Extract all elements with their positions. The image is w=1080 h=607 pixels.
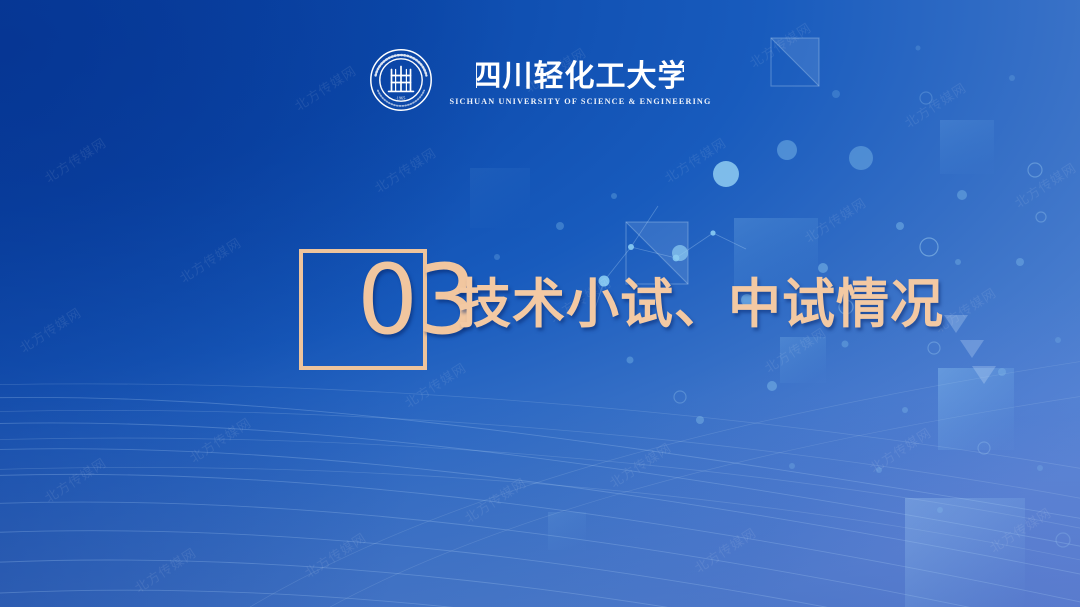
section-divider-slide: 北方传媒网北方传媒网北方传媒网北方传媒网北方传媒网北方传媒网北方传媒网北方传媒网… [0, 0, 1080, 607]
seal-icon: ·1965· [369, 48, 433, 112]
svg-text:·1965·: ·1965· [395, 96, 406, 101]
university-name-cn: 四川轻化工大学 [476, 55, 684, 95]
university-seal-logo: ·1965· [369, 48, 433, 112]
university-name-cn-calligraphy: 四川轻化工大学 [476, 55, 684, 95]
brand-wordmark: 四川轻化工大学 SICHUAN UNIVERSITY OF SCIENCE & … [450, 55, 712, 106]
section-title-block: 03 技术小试、中试情况 [299, 247, 427, 370]
university-name-en: SICHUAN UNIVERSITY OF SCIENCE & ENGINEER… [450, 97, 712, 106]
university-name-cn-text: 四川轻化工大学 [476, 59, 684, 94]
section-title: 技术小试、中试情况 [458, 278, 944, 331]
slide-header: ·1965· 四川轻化工大学 SICHUAN UNIVERSITY OF SCI… [0, 48, 1080, 112]
